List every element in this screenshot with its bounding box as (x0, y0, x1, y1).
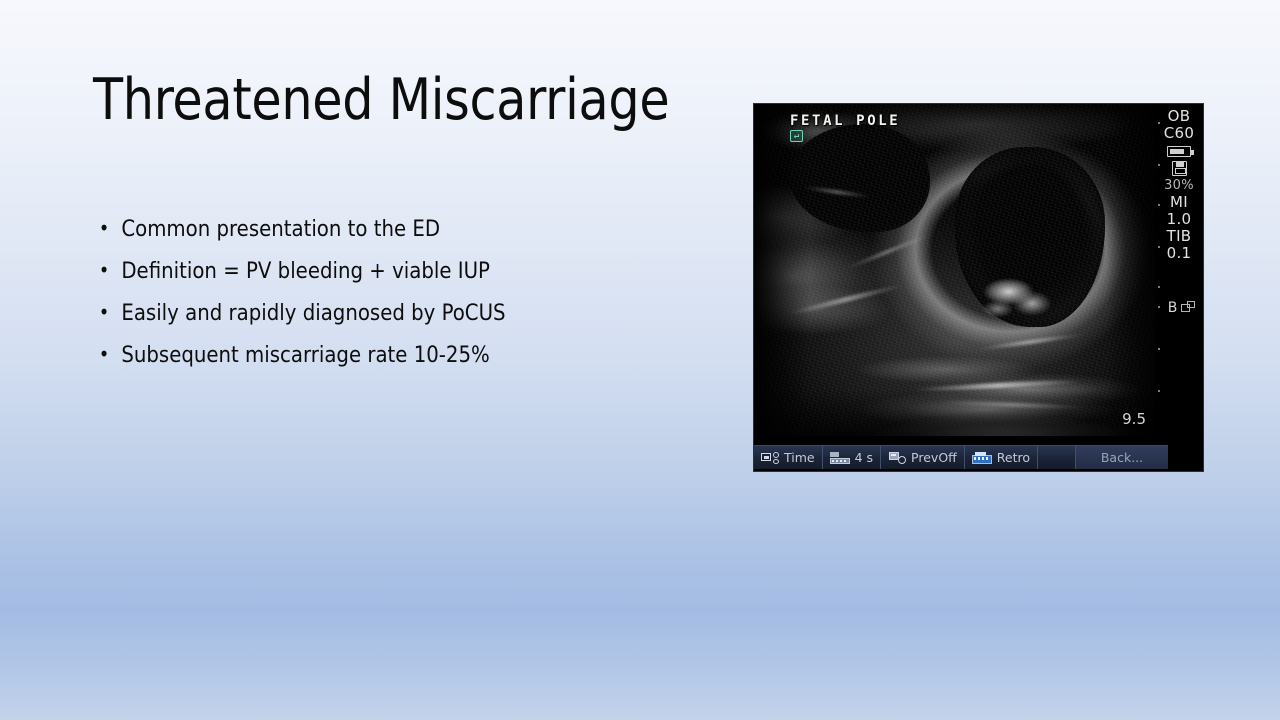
depth-scale-ticks (1157, 104, 1163, 436)
imaging-mode-label: B (1168, 300, 1178, 316)
softkey-retro-label: Retro (997, 450, 1030, 465)
list-item: Definition = PV bleeding + viable IUP (96, 257, 681, 286)
softkey-clip-length[interactable]: 4 s (823, 446, 881, 469)
preview-icon (888, 452, 906, 464)
softkey-back[interactable]: Back... (1076, 446, 1168, 469)
softkey-time[interactable]: Time (754, 446, 823, 469)
ultrasound-image: FETAL POLE ↵ 9.5 OB C60 3 (753, 103, 1204, 472)
ultrasound-parameter-rail: OB C60 30% MI 1.0 TIB 0.1 B (1155, 104, 1203, 436)
speckle-noise (754, 104, 1155, 436)
softkey-preview-label: PrevOff (911, 450, 957, 465)
softkey-empty[interactable] (1038, 446, 1076, 469)
imaging-mode-indicator: B (1155, 300, 1203, 316)
retro-icon (972, 452, 992, 464)
bullet-list: Common presentation to the ED Definition… (96, 215, 696, 383)
page-title: Threatened Miscarriage (93, 68, 688, 134)
annotation-cursor-icon: ↵ (790, 130, 803, 142)
softkey-time-label: Time (784, 450, 815, 465)
softkey-strip: Time 4 s PrevOff (754, 445, 1168, 469)
softkey-clip-length-label: 4 s (855, 450, 873, 465)
list-item: Subsequent miscarriage rate 10-25% (96, 341, 681, 370)
time-icon (761, 452, 779, 464)
annotation-label: FETAL POLE (790, 113, 900, 129)
softkey-preview[interactable]: PrevOff (881, 446, 965, 469)
softkey-back-label: Back... (1101, 450, 1143, 465)
bmode-icon (1181, 304, 1190, 312)
slide-canvas: Threatened Miscarriage Common presentati… (0, 0, 1280, 720)
softkey-retro[interactable]: Retro (965, 446, 1038, 469)
battery-icon (1167, 146, 1191, 157)
depth-marker: 9.5 (1122, 410, 1146, 428)
clip-icon (830, 452, 850, 464)
list-item: Common presentation to the ED (96, 215, 681, 244)
list-item: Easily and rapidly diagnosed by PoCUS (96, 299, 681, 328)
ultrasound-softkey-toolbar: Time 4 s PrevOff (754, 436, 1203, 471)
ultrasound-scan-area: FETAL POLE ↵ 9.5 (754, 104, 1155, 436)
save-icon (1172, 161, 1187, 176)
